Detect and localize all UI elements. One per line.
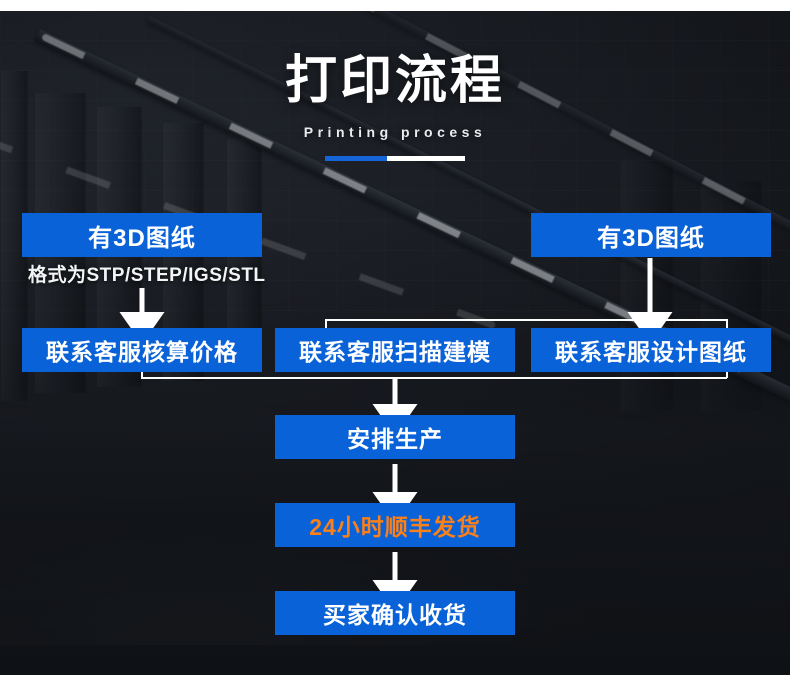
node-shipping[interactable]: 24小时顺丰发货 [275,503,515,547]
flow-diagram: 有3D图纸 有3D图纸 格式为STP/STEP/IGS/STL 联系客服核算价格… [0,0,790,696]
node-design-drawing[interactable]: 联系客服设计图纸 [531,328,771,372]
flowchart-banner: 打印流程 Printing process 有3D图纸 有3D图 [0,0,790,696]
node-scan-model[interactable]: 联系客服扫描建模 [275,328,515,372]
node-have-3d-left[interactable]: 有3D图纸 [22,213,262,257]
node-quote[interactable]: 联系客服核算价格 [22,328,262,372]
caption-format-note: 格式为STP/STEP/IGS/STL [28,260,266,287]
node-have-3d-right[interactable]: 有3D图纸 [531,213,771,257]
node-production[interactable]: 安排生产 [275,415,515,459]
node-confirm[interactable]: 买家确认收货 [275,591,515,635]
